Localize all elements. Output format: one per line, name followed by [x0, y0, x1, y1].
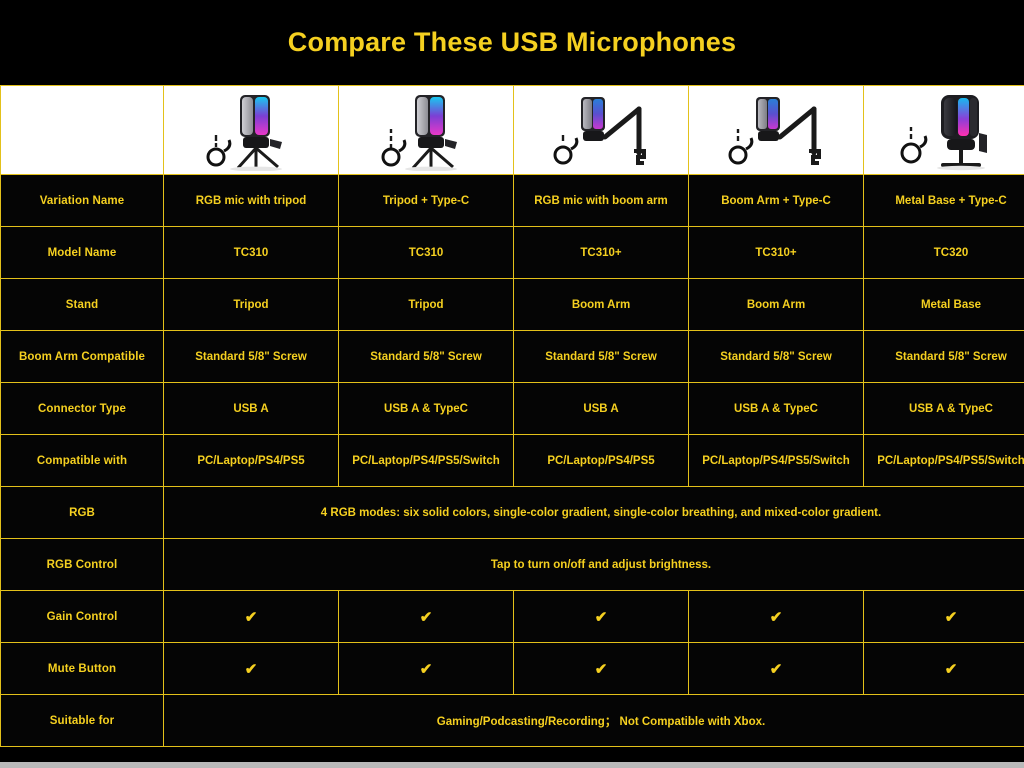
- check-icon-gain-control-3: ✔: [514, 591, 689, 643]
- cell-connector-type-2: USB A & TypeC: [339, 383, 514, 435]
- table-row-boom-arm-compatible: Boom Arm Compatible Standard 5/8" Screw …: [1, 331, 1024, 383]
- check-icon-mute-button-1: ✔: [164, 643, 339, 695]
- page-title: Compare These USB Microphones: [288, 27, 736, 58]
- cell-model-name-4: TC310+: [689, 227, 864, 279]
- cell-stand-2: Tripod: [339, 279, 514, 331]
- check-icon-gain-control-1: ✔: [164, 591, 339, 643]
- table-row-variation-name: Variation Name RGB mic with tripod Tripo…: [1, 175, 1024, 227]
- row-label-connector-type: Connector Type: [1, 383, 164, 435]
- usb-microphone-rgb-tripod-icon: [164, 86, 338, 174]
- usb-microphone-metal-base-typec-icon: [864, 86, 1024, 174]
- cell-suitable-for-merged: Gaming/Podcasting/Recording； Not Compati…: [164, 695, 1024, 747]
- product-image-cell-4[interactable]: [689, 86, 864, 175]
- table-row-suitable-for: Suitable for Gaming/Podcasting/Recording…: [1, 695, 1024, 747]
- cell-rgb-merged: 4 RGB modes: six solid colors, single-co…: [164, 487, 1024, 539]
- table-row-stand: Stand Tripod Tripod Boom Arm Boom Arm Me…: [1, 279, 1024, 331]
- row-label-variation-name: Variation Name: [1, 175, 164, 227]
- cell-model-name-3: TC310+: [514, 227, 689, 279]
- bottom-strip: [0, 762, 1024, 768]
- check-icon-mute-button-3: ✔: [514, 643, 689, 695]
- check-icon-gain-control-5: ✔: [864, 591, 1024, 643]
- row-label-boom-arm-compatible: Boom Arm Compatible: [1, 331, 164, 383]
- row-label-rgb-control: RGB Control: [1, 539, 164, 591]
- table-body: Variation Name RGB mic with tripod Tripo…: [1, 86, 1024, 747]
- row-label-gain-control: Gain Control: [1, 591, 164, 643]
- row-label-model-name: Model Name: [1, 227, 164, 279]
- check-icon-mute-button-5: ✔: [864, 643, 1024, 695]
- row-label-stand: Stand: [1, 279, 164, 331]
- table-row-gain-control: Gain Control ✔ ✔ ✔ ✔ ✔: [1, 591, 1024, 643]
- cell-model-name-1: TC310: [164, 227, 339, 279]
- table-row-rgb: RGB 4 RGB modes: six solid colors, singl…: [1, 487, 1024, 539]
- product-image-cell-3[interactable]: [514, 86, 689, 175]
- check-icon-mute-button-4: ✔: [689, 643, 864, 695]
- cell-compatible-with-2: PC/Laptop/PS4/PS5/Switch: [339, 435, 514, 487]
- cell-connector-type-4: USB A & TypeC: [689, 383, 864, 435]
- cell-boom-arm-compatible-3: Standard 5/8" Screw: [514, 331, 689, 383]
- table-row-mute-button: Mute Button ✔ ✔ ✔ ✔ ✔: [1, 643, 1024, 695]
- table-row-rgb-control: RGB Control Tap to turn on/off and adjus…: [1, 539, 1024, 591]
- check-icon-gain-control-4: ✔: [689, 591, 864, 643]
- cell-variation-name-4: Boom Arm + Type-C: [689, 175, 864, 227]
- table-row-connector-type: Connector Type USB A USB A & TypeC USB A…: [1, 383, 1024, 435]
- cell-variation-name-3: RGB mic with boom arm: [514, 175, 689, 227]
- product-image-cell-5[interactable]: [864, 86, 1024, 175]
- check-icon-mute-button-2: ✔: [339, 643, 514, 695]
- comparison-table: Variation Name RGB mic with tripod Tripo…: [0, 85, 1024, 747]
- product-image-row: [1, 86, 1024, 175]
- cell-compatible-with-3: PC/Laptop/PS4/PS5: [514, 435, 689, 487]
- cell-stand-4: Boom Arm: [689, 279, 864, 331]
- corner-cell: [1, 86, 164, 175]
- product-image-cell-1[interactable]: [164, 86, 339, 175]
- comparison-page: Compare These USB Microphones: [0, 0, 1024, 768]
- usb-microphone-rgb-boom-arm-icon: [514, 86, 688, 174]
- cell-boom-arm-compatible-4: Standard 5/8" Screw: [689, 331, 864, 383]
- cell-stand-3: Boom Arm: [514, 279, 689, 331]
- row-label-mute-button: Mute Button: [1, 643, 164, 695]
- cell-model-name-2: TC310: [339, 227, 514, 279]
- row-label-suitable-for: Suitable for: [1, 695, 164, 747]
- cell-boom-arm-compatible-5: Standard 5/8" Screw: [864, 331, 1024, 383]
- cell-stand-5: Metal Base: [864, 279, 1024, 331]
- row-label-rgb: RGB: [1, 487, 164, 539]
- title-bar: Compare These USB Microphones: [0, 0, 1024, 85]
- cell-rgb-control-merged: Tap to turn on/off and adjust brightness…: [164, 539, 1024, 591]
- usb-microphone-tripod-typec-icon: [339, 86, 513, 174]
- table-row-compatible-with: Compatible with PC/Laptop/PS4/PS5 PC/Lap…: [1, 435, 1024, 487]
- cell-connector-type-1: USB A: [164, 383, 339, 435]
- usb-microphone-boom-arm-typec-icon: [689, 86, 863, 174]
- cell-boom-arm-compatible-2: Standard 5/8" Screw: [339, 331, 514, 383]
- cell-connector-type-5: USB A & TypeC: [864, 383, 1024, 435]
- cell-compatible-with-1: PC/Laptop/PS4/PS5: [164, 435, 339, 487]
- cell-model-name-5: TC320: [864, 227, 1024, 279]
- cell-variation-name-2: Tripod + Type-C: [339, 175, 514, 227]
- check-icon-gain-control-2: ✔: [339, 591, 514, 643]
- row-label-compatible-with: Compatible with: [1, 435, 164, 487]
- cell-boom-arm-compatible-1: Standard 5/8" Screw: [164, 331, 339, 383]
- cell-variation-name-1: RGB mic with tripod: [164, 175, 339, 227]
- cell-compatible-with-5: PC/Laptop/PS4/PS5/Switch: [864, 435, 1024, 487]
- cell-compatible-with-4: PC/Laptop/PS4/PS5/Switch: [689, 435, 864, 487]
- cell-connector-type-3: USB A: [514, 383, 689, 435]
- table-row-model-name: Model Name TC310 TC310 TC310+ TC310+ TC3…: [1, 227, 1024, 279]
- cell-variation-name-5: Metal Base + Type-C: [864, 175, 1024, 227]
- product-image-cell-2[interactable]: [339, 86, 514, 175]
- cell-stand-1: Tripod: [164, 279, 339, 331]
